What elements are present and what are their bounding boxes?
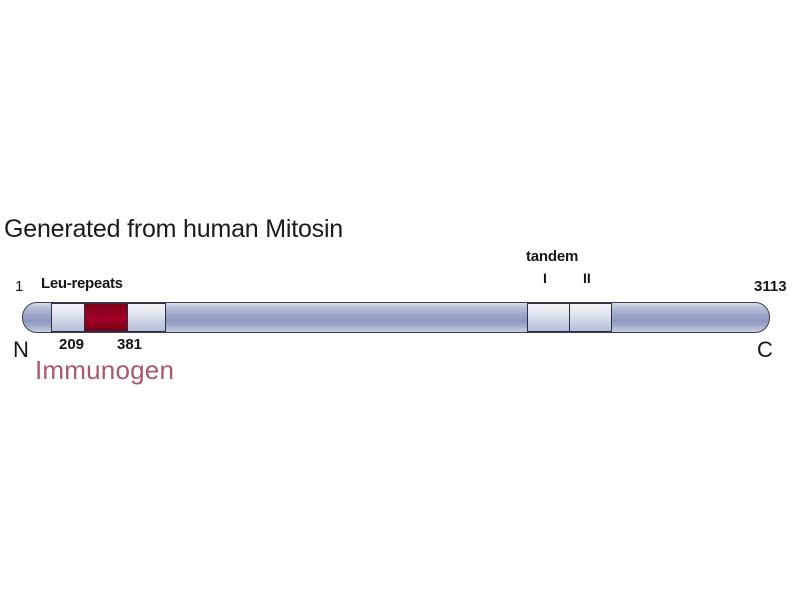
residue-end-label: 3113 <box>754 278 787 295</box>
immunogen-end-residue-label: 381 <box>117 336 142 353</box>
terminus-c-label: C <box>757 337 773 363</box>
domain-box-tandem-i <box>527 303 570 332</box>
immunogen-start-residue-label: 209 <box>59 336 84 353</box>
tandem-repeat-2-label: II <box>583 270 591 286</box>
residue-start-label: 1 <box>15 278 23 295</box>
tandem-repeat-1-label: I <box>543 270 547 286</box>
domain-box-tandem-ii <box>569 303 612 332</box>
leu-repeats-label: Leu-repeats <box>41 275 123 292</box>
domain-box-immunogen <box>84 303 128 332</box>
immunogen-label: Immunogen <box>35 355 174 386</box>
protein-domain-figure: Generated from human Mitosin 1 Leu-repea… <box>0 0 800 600</box>
page-title: Generated from human Mitosin <box>4 215 343 244</box>
tandem-label: tandem <box>526 248 578 265</box>
terminus-n-label: N <box>13 337 29 363</box>
